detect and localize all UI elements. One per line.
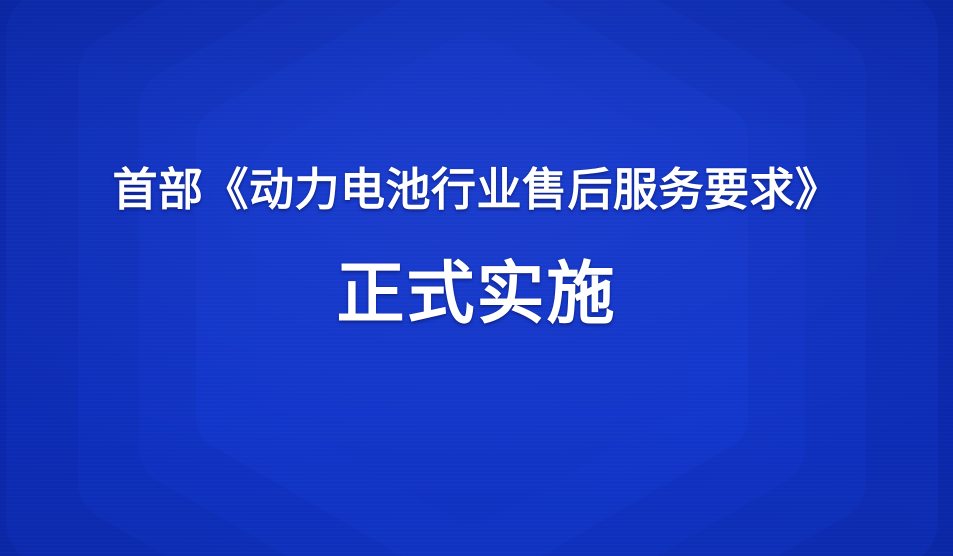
headline-secondary: 正式实施 [336,260,616,328]
headline-primary: 首部《动力电池行业售后服务要求》 [112,167,840,212]
promo-banner: 首部《动力电池行业售后服务要求》 正式实施 [0,0,953,556]
